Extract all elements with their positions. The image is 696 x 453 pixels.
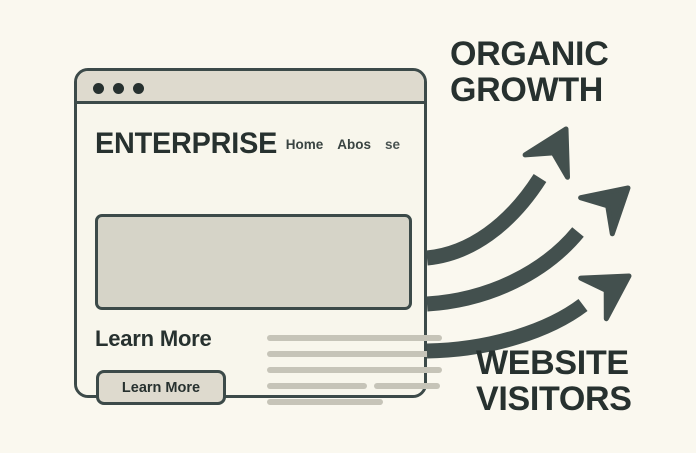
arrow-organic-growth-shaft — [427, 178, 540, 258]
placeholder-text-line-row — [267, 399, 442, 405]
arrow-website-visitors-head — [581, 276, 629, 319]
hero-image-placeholder — [95, 214, 412, 310]
label-organic-growth: ORGANIC GROWTH — [450, 36, 608, 109]
site-nav: Home Abos se — [286, 137, 400, 152]
label-organic-growth-line2: GROWTH — [450, 72, 608, 108]
window-close-dot-icon[interactable] — [93, 83, 104, 94]
browser-window-mockup: ENTERPRISE Home Abos se Learn More Learn… — [74, 68, 427, 398]
placeholder-text-line-row — [267, 367, 442, 373]
content-section: Learn More Learn More — [95, 326, 408, 436]
nav-link-abos[interactable]: Abos — [337, 137, 371, 152]
label-organic-growth-line1: ORGANIC — [450, 35, 608, 73]
arrow-organic-growth-head — [525, 129, 567, 177]
placeholder-text-line-row — [267, 383, 442, 389]
placeholder-text-line — [267, 383, 367, 389]
arrow-organic-growth — [427, 129, 568, 258]
label-website-visitors-line1: WEBSITE — [476, 344, 629, 382]
arrow-middle — [427, 188, 628, 304]
placeholder-text-line — [267, 399, 383, 405]
site-logo[interactable]: ENTERPRISE — [95, 128, 277, 160]
learn-more-button-label: Learn More — [122, 380, 200, 396]
placeholder-text-line — [267, 367, 442, 373]
placeholder-text-line — [267, 351, 442, 357]
learn-more-button[interactable]: Learn More — [96, 370, 226, 405]
nav-link-se[interactable]: se — [385, 137, 400, 152]
section-heading: Learn More — [95, 326, 212, 352]
site-header: ENTERPRISE Home Abos se — [95, 128, 406, 162]
label-website-visitors-line2: VISITORS — [476, 381, 632, 417]
arrow-middle-shaft — [427, 232, 578, 304]
infographic-canvas: ENTERPRISE Home Abos se Learn More Learn… — [0, 0, 696, 453]
placeholder-text-line-row — [267, 351, 442, 357]
window-maximize-dot-icon[interactable] — [133, 83, 144, 94]
placeholder-text-line — [374, 383, 441, 389]
arrow-website-visitors — [427, 276, 629, 351]
arrow-middle-head — [581, 188, 628, 234]
placeholder-text-line-row — [267, 335, 442, 341]
label-website-visitors: WEBSITE VISITORS — [476, 345, 632, 418]
placeholder-text-line — [267, 335, 442, 341]
browser-titlebar — [77, 71, 424, 104]
window-minimize-dot-icon[interactable] — [113, 83, 124, 94]
nav-link-home[interactable]: Home — [286, 137, 324, 152]
browser-content-area: ENTERPRISE Home Abos se Learn More Learn… — [77, 104, 424, 395]
placeholder-text-lines — [267, 335, 442, 415]
